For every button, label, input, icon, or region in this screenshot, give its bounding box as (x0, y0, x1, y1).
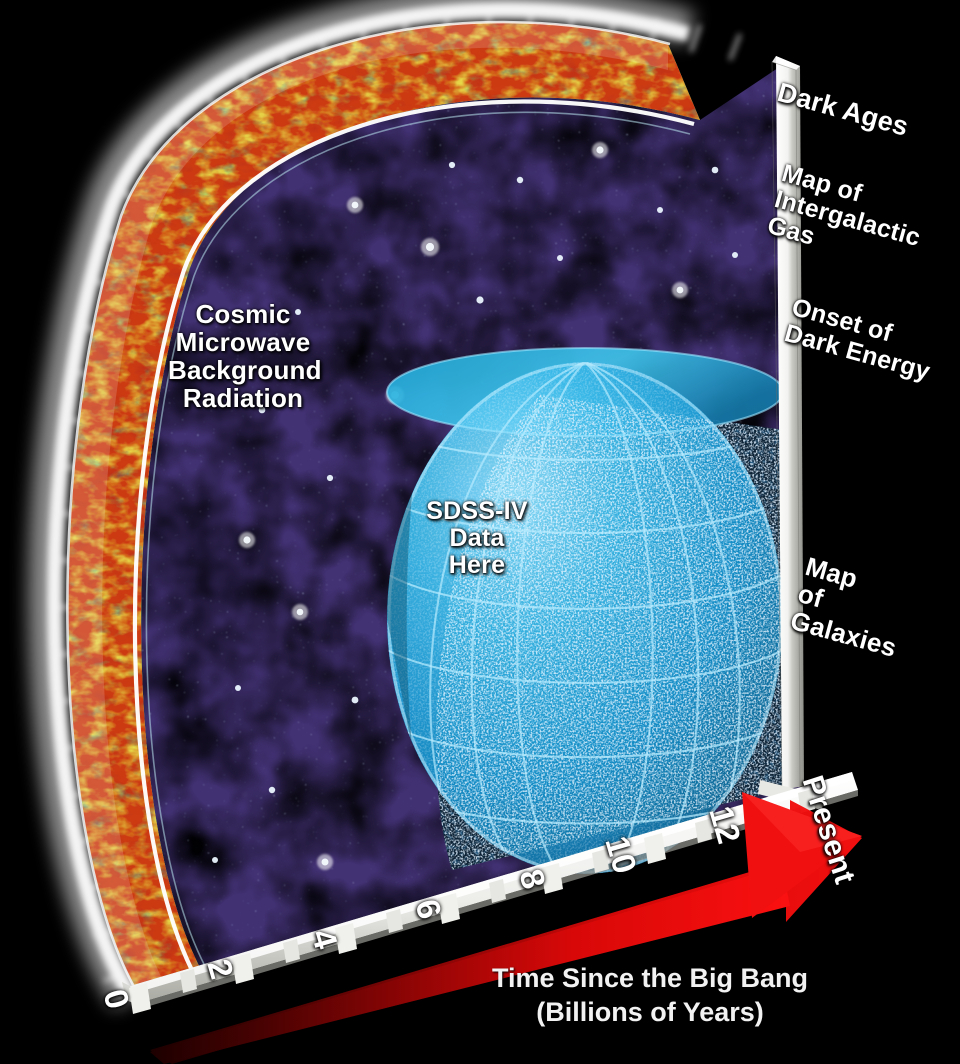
axis-title-line-2: (Billions of Years) (470, 996, 830, 1029)
label-sdss-data-here: SDSS-IV Data Here (418, 498, 536, 579)
label-cosmic-microwave-background: Cosmic Microwave Background Radiation (168, 300, 318, 412)
axis-title-line-1: Time Since the Big Bang (470, 962, 830, 995)
cosmic-timeline-figure: Cosmic Microwave Background Radiation SD… (0, 0, 960, 1064)
